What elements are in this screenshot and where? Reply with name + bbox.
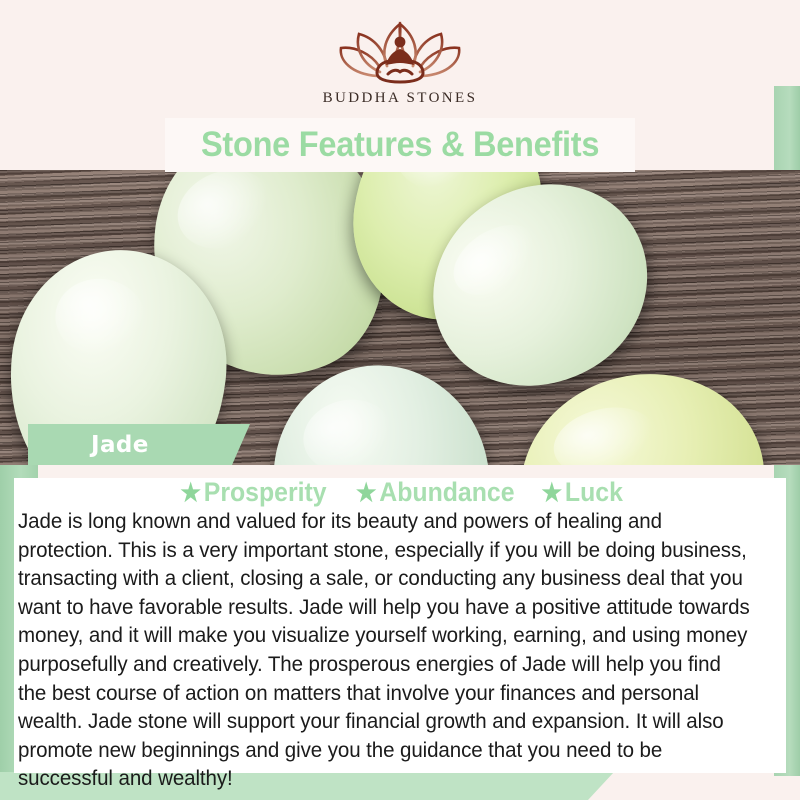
stone-photo — [0, 170, 800, 465]
benefits-list: ★Prosperity ★Abundance ★Luck — [0, 477, 800, 508]
title-plate: Stone Features & Benefits — [165, 118, 635, 172]
benefit-item-prosperity: ★Prosperity — [180, 477, 326, 508]
star-icon: ★ — [180, 479, 201, 507]
benefit-label: Luck — [565, 477, 623, 507]
page-title: Stone Features & Benefits — [201, 125, 599, 165]
benefit-item-abundance: ★Abundance — [356, 477, 515, 508]
brand-logo: BUDDHA STONES — [290, 16, 510, 107]
stone-name-band: Jade — [28, 424, 250, 465]
lotus-meditation-icon — [331, 16, 469, 88]
star-icon: ★ — [541, 479, 562, 507]
star-icon: ★ — [356, 479, 377, 507]
stone-name-label: Jade — [91, 432, 149, 458]
brand-name: BUDDHA STONES — [290, 90, 510, 107]
header: BUDDHA STONES — [0, 0, 800, 118]
photo-top-plate-edge — [165, 170, 635, 172]
benefit-item-luck: ★Luck — [541, 477, 622, 508]
product-info-card: BUDDHA STONES Stone Features & Benefits … — [0, 0, 800, 800]
benefit-label: Abundance — [379, 477, 514, 507]
stone-description: Jade is long known and valued for its be… — [18, 507, 753, 793]
content-area: ★Prosperity ★Abundance ★Luck Jade is lon… — [0, 465, 800, 800]
benefit-label: Prosperity — [203, 477, 326, 507]
